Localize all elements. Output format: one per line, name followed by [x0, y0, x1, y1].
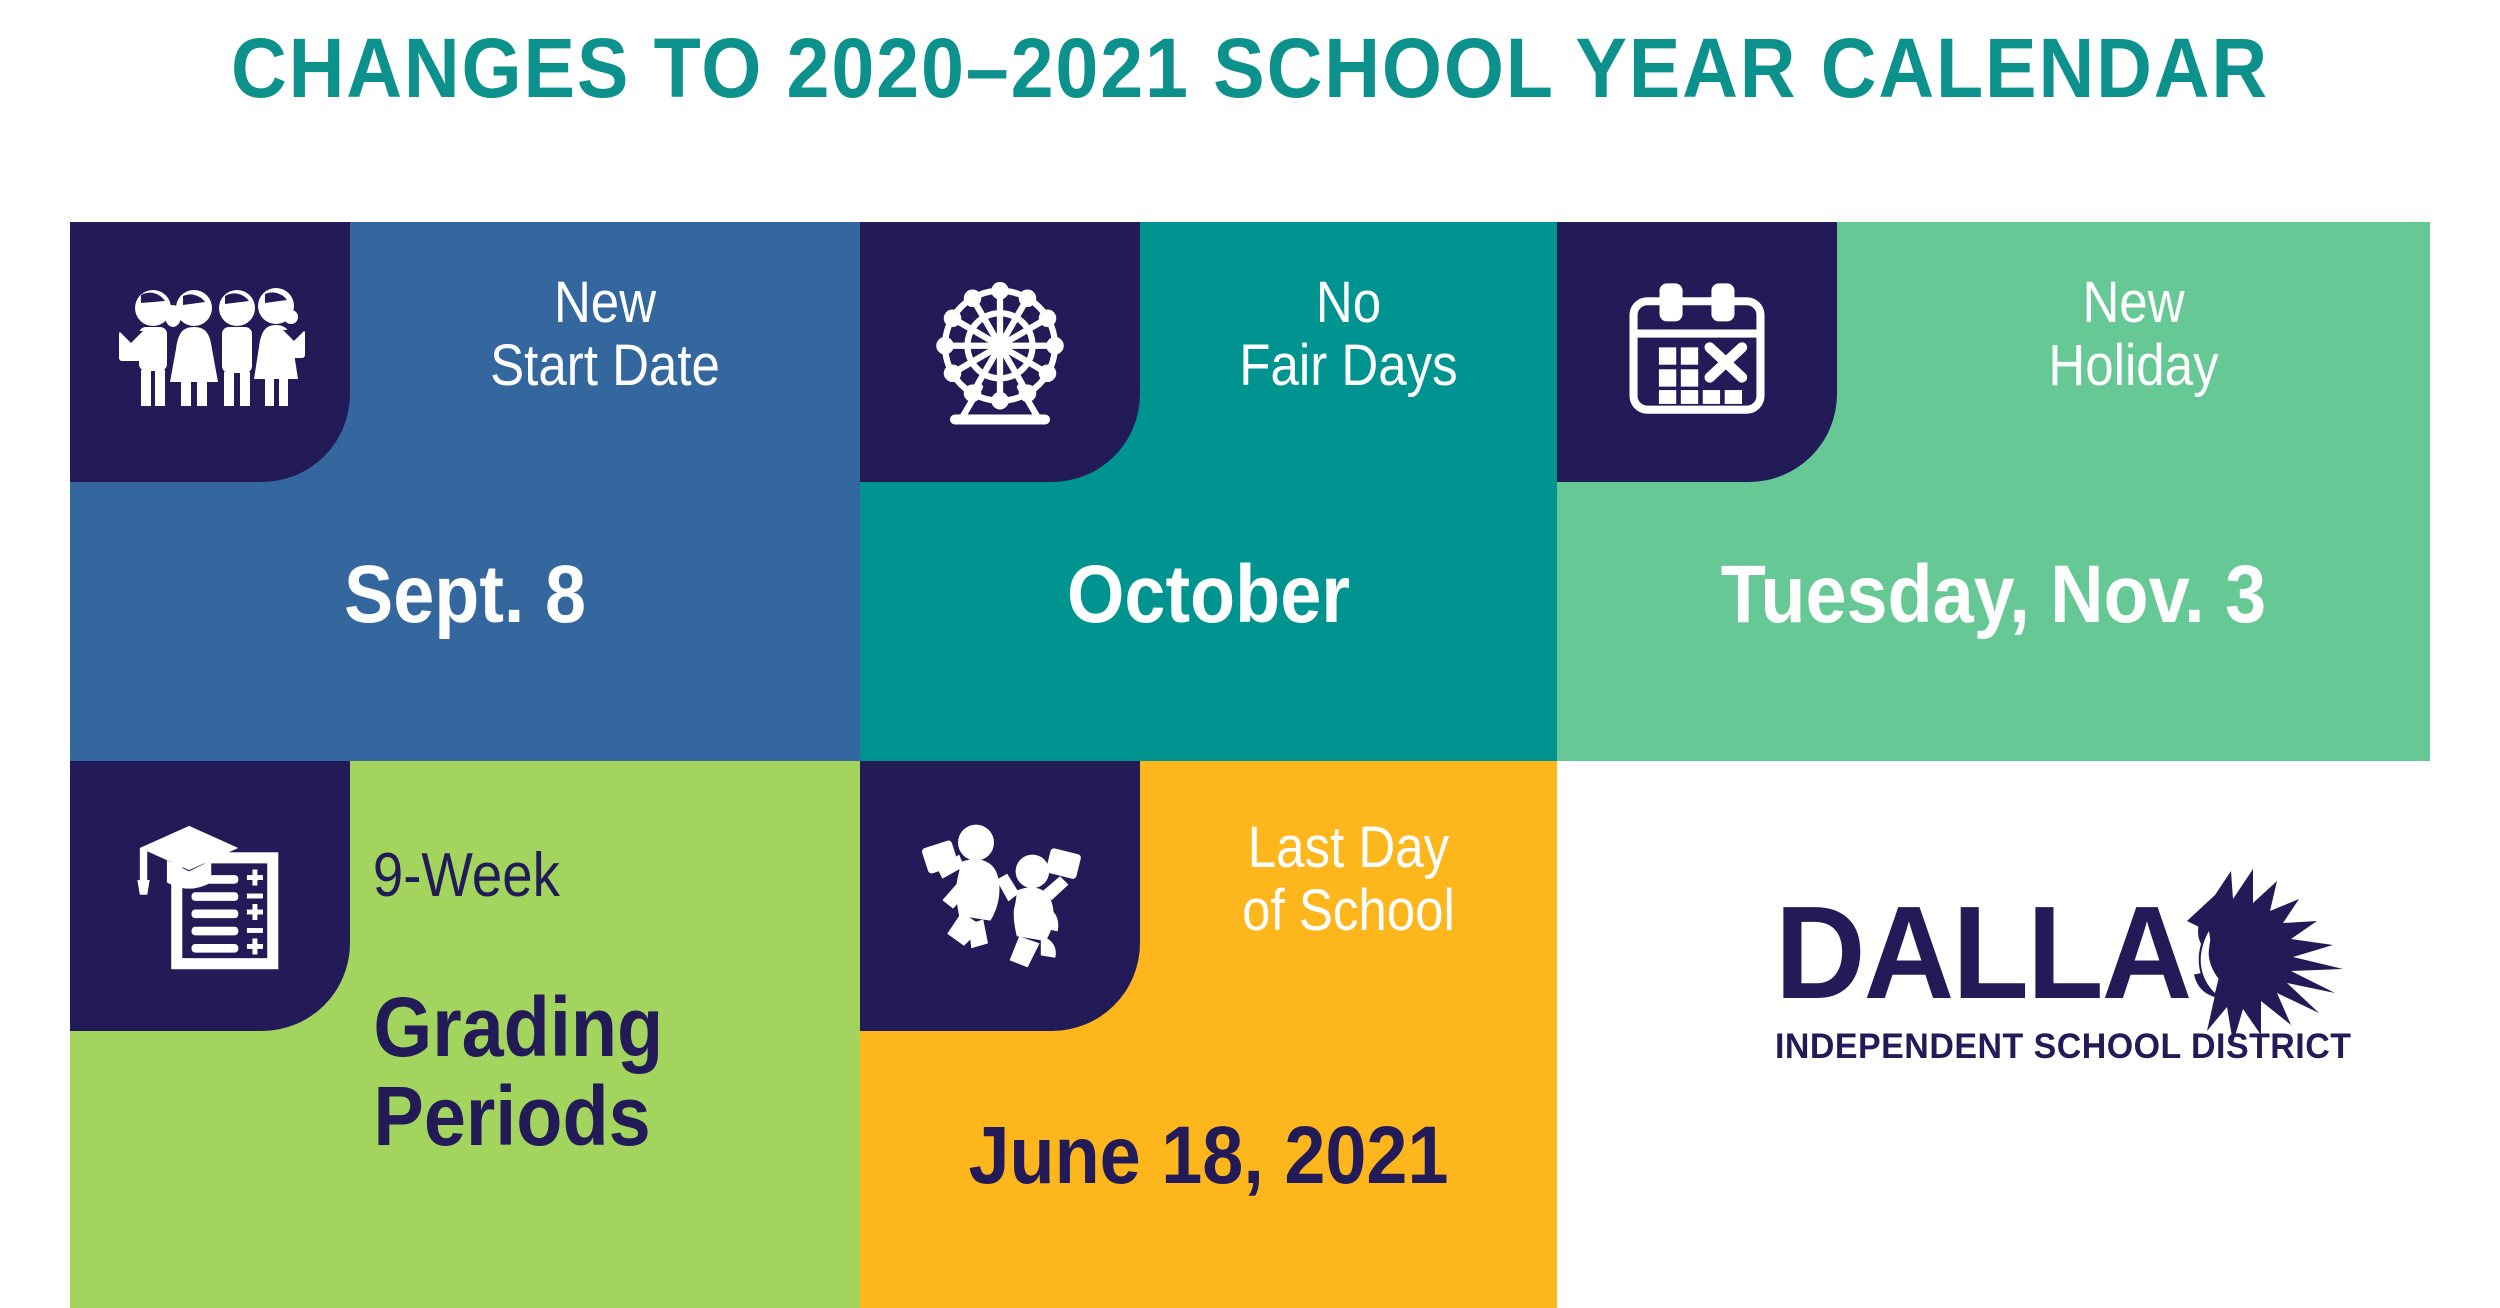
card-last-day-of-school: Last Day of School June 18, 2021 — [860, 761, 1557, 1308]
card-headline: June 18, 2021 — [895, 1113, 1522, 1199]
card-headline: Tuesday, Nov. 3 — [1601, 552, 2387, 638]
icon-badge — [860, 222, 1140, 482]
card-headline: Sept. 8 — [110, 552, 821, 638]
logo-cell: DALLAS INDEPENDENT SCHOOL DISTRICT — [1557, 761, 2430, 1308]
students-group-icon — [115, 286, 305, 418]
icon-badge — [70, 222, 350, 482]
icon-badge — [1557, 222, 1837, 482]
card-caption: New Start Date — [381, 272, 830, 397]
card-new-start-date: New Start Date Sept. 8 — [70, 222, 860, 761]
grid-row-2: 9-Week Grading Periods — [70, 761, 2430, 1308]
grid-row-1: New Start Date Sept. 8 — [70, 222, 2430, 761]
card-headline: Grading Periods — [350, 983, 809, 1161]
card-caption: New Holiday — [1873, 272, 2395, 397]
gradcap-report-icon — [130, 816, 290, 976]
card-caption: Last Day of School — [1165, 817, 1532, 942]
card-grading-periods: 9-Week Grading Periods — [70, 761, 860, 1308]
card-headline: October — [895, 552, 1522, 638]
card-caption: No Fair Days — [1165, 272, 1532, 397]
celebrating-students-icon — [915, 821, 1085, 971]
ferris-wheel-icon — [925, 277, 1075, 427]
card-no-fair-days: No Fair Days October — [860, 222, 1557, 761]
starburst-face-icon — [2157, 865, 2347, 1055]
card-new-holiday: New Holiday Tuesday, Nov. 3 — [1557, 222, 2430, 761]
icon-badge — [860, 761, 1140, 1031]
calendar-x-icon — [1622, 282, 1772, 422]
calendar-changes-grid: New Start Date Sept. 8 — [70, 222, 2430, 1308]
dallas-isd-logo: DALLAS INDEPENDENT SCHOOL DISTRICT — [1775, 887, 2375, 1107]
page-title: CHANGES TO 2020–2021 SCHOOL YEAR CALENDA… — [100, 26, 2400, 110]
icon-badge — [70, 761, 350, 1031]
card-caption: 9-Week — [350, 843, 799, 908]
